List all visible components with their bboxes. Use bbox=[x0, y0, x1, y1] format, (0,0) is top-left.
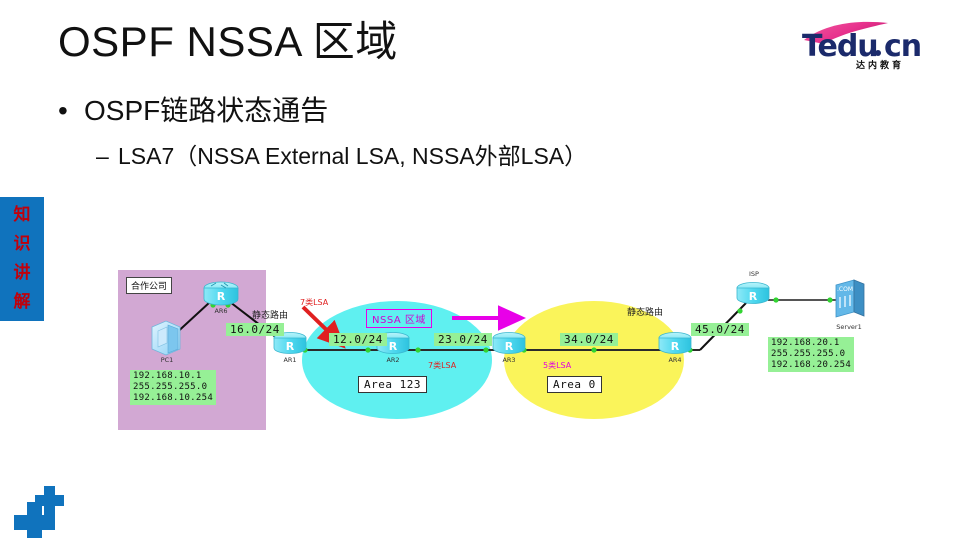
side-tab-knowledge: 知 识 讲 解 bbox=[0, 197, 44, 321]
device-label-ar2: AR2 bbox=[378, 356, 408, 364]
annotation-lsa5: 5类LSA bbox=[543, 360, 571, 371]
side-tab-char-0: 知 bbox=[14, 201, 31, 230]
bullet-level1-text: OSPF链路状态通告 bbox=[84, 95, 328, 126]
tedu-logo-icon: Tedu cn 达内教育 bbox=[800, 20, 940, 70]
device-label-isp: ISP bbox=[739, 270, 769, 278]
device-label-ar3: AR3 bbox=[494, 356, 524, 364]
ip-block-server1: 192.168.20.1 255.255.255.0 192.168.20.25… bbox=[768, 337, 854, 372]
device-label-server1: Server1 bbox=[830, 323, 868, 331]
link-label-16: 16.0/24 bbox=[226, 323, 284, 336]
ip-line: 192.168.20.254 bbox=[771, 360, 851, 371]
page-title: OSPF NSSA 区域 bbox=[58, 16, 398, 68]
link-label-34: 34.0/24 bbox=[560, 333, 618, 346]
bullet-marker: • bbox=[58, 92, 84, 130]
device-label-ar1: AR1 bbox=[275, 356, 305, 364]
ip-line: 192.168.10.254 bbox=[133, 393, 213, 404]
tedu-logo: Tedu cn 达内教育 bbox=[800, 20, 940, 70]
bullet-level1: •OSPF链路状态通告 bbox=[58, 92, 328, 130]
label-area-0: Area 0 bbox=[547, 376, 602, 393]
bullet-sub-marker: – bbox=[96, 140, 118, 172]
device-router-isp: R bbox=[737, 283, 769, 304]
svg-text:达内教育: 达内教育 bbox=[856, 59, 904, 70]
ip-line: 255.255.255.0 bbox=[133, 382, 213, 393]
link-label-45: 45.0/24 bbox=[691, 323, 749, 336]
link-label-23: 23.0/24 bbox=[434, 333, 492, 346]
svg-text:.COM: .COM bbox=[837, 286, 853, 293]
annotation-static-route-left: 静态路由 bbox=[252, 308, 288, 321]
region-partner-company bbox=[118, 270, 266, 430]
label-partner-company: 合作公司 bbox=[126, 277, 172, 294]
ip-line: 192.168.20.1 bbox=[771, 338, 851, 349]
plus-marks-icon bbox=[14, 482, 74, 538]
svg-text:cn: cn bbox=[884, 29, 921, 64]
bullet-level2-text: LSA7（NSSA External LSA, NSSA外部LSA） bbox=[118, 143, 587, 169]
side-tab-char-2: 讲 bbox=[14, 259, 31, 288]
svg-text:R: R bbox=[749, 290, 758, 303]
annotation-lsa7-left: 7类LSA bbox=[300, 297, 328, 308]
device-server1: .COM bbox=[836, 280, 864, 317]
annotation-lsa7-mid: 7类LSA bbox=[428, 360, 456, 371]
region-backbone-area bbox=[504, 301, 684, 419]
annotation-static-route-right: 静态路由 bbox=[627, 305, 663, 318]
device-label-pc1: PC1 bbox=[152, 356, 182, 364]
device-label-ar4: AR4 bbox=[660, 356, 690, 364]
link-label-12: 12.0/24 bbox=[329, 333, 387, 346]
svg-text:R: R bbox=[286, 340, 295, 353]
ip-line: 192.168.10.1 bbox=[133, 371, 213, 382]
badge-nssa-area: NSSA 区域 bbox=[366, 309, 432, 328]
network-diagram: R R R R bbox=[100, 255, 880, 445]
ip-line: 255.255.255.0 bbox=[771, 349, 851, 360]
ip-block-pc1: 192.168.10.1 255.255.255.0 192.168.10.25… bbox=[130, 370, 216, 405]
label-area-123: Area 123 bbox=[358, 376, 427, 393]
device-label-ar6: AR6 bbox=[206, 307, 236, 315]
side-tab-char-1: 识 bbox=[14, 230, 31, 259]
bullet-level2: –LSA7（NSSA External LSA, NSSA外部LSA） bbox=[96, 140, 587, 172]
slide-root: OSPF NSSA 区域 •OSPF链路状态通告 –LSA7（NSSA Exte… bbox=[0, 0, 960, 540]
svg-text:Tedu: Tedu bbox=[802, 29, 878, 64]
side-tab-char-3: 解 bbox=[14, 288, 31, 317]
